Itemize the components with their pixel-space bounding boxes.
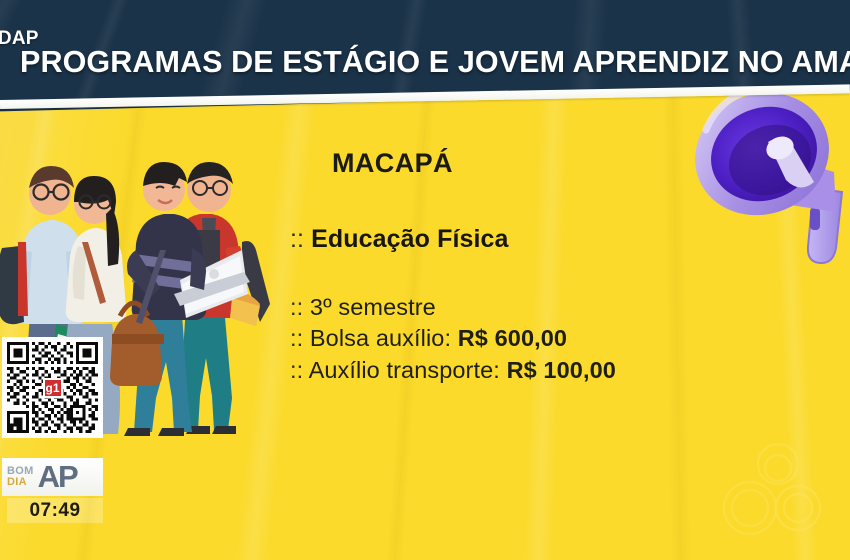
detail-row: :: 3º semestre bbox=[290, 292, 710, 323]
info-panel: MACAPÁ :: Educação Física :: 3º semestre… bbox=[290, 148, 710, 386]
page-title: PROGRAMAS DE ESTÁGIO E JOVEM APRENDIZ NO… bbox=[20, 45, 850, 80]
bullet-marker: :: bbox=[290, 325, 303, 351]
bullet-marker: :: bbox=[290, 225, 304, 253]
detail-label: Bolsa auxílio: bbox=[310, 325, 451, 351]
detail-value: R$ 600,00 bbox=[458, 325, 567, 351]
show-logo-state: AP bbox=[38, 465, 77, 490]
detail-label: Auxílio transporte: bbox=[309, 357, 500, 383]
detail-row: :: Auxílio transporte: R$ 100,00 bbox=[290, 355, 710, 386]
show-logo: BOM DIA AP bbox=[2, 458, 103, 496]
detail-value: R$ 100,00 bbox=[507, 357, 616, 383]
qr-code-icon[interactable]: g1 bbox=[2, 337, 103, 438]
show-logo-line2: DIA bbox=[7, 477, 34, 488]
detail-list: :: 3º semestre :: Bolsa auxílio: R$ 600,… bbox=[290, 292, 710, 386]
detail-row: :: Bolsa auxílio: R$ 600,00 bbox=[290, 323, 710, 354]
detail-label: 3º semestre bbox=[310, 294, 436, 320]
bullet-marker: :: bbox=[290, 357, 303, 383]
g1-logo: g1 bbox=[43, 378, 63, 398]
course-line: :: Educação Física bbox=[290, 225, 710, 254]
city-heading: MACAPÁ bbox=[332, 148, 710, 179]
bullet-marker: :: bbox=[290, 294, 303, 320]
broadcast-graphic-stage: BDAP PROGRAMAS DE ESTÁGIO E JOVEM APREND… bbox=[0, 0, 850, 560]
course-name: Educação Física bbox=[311, 225, 508, 253]
clock: 07:49 bbox=[7, 498, 103, 523]
